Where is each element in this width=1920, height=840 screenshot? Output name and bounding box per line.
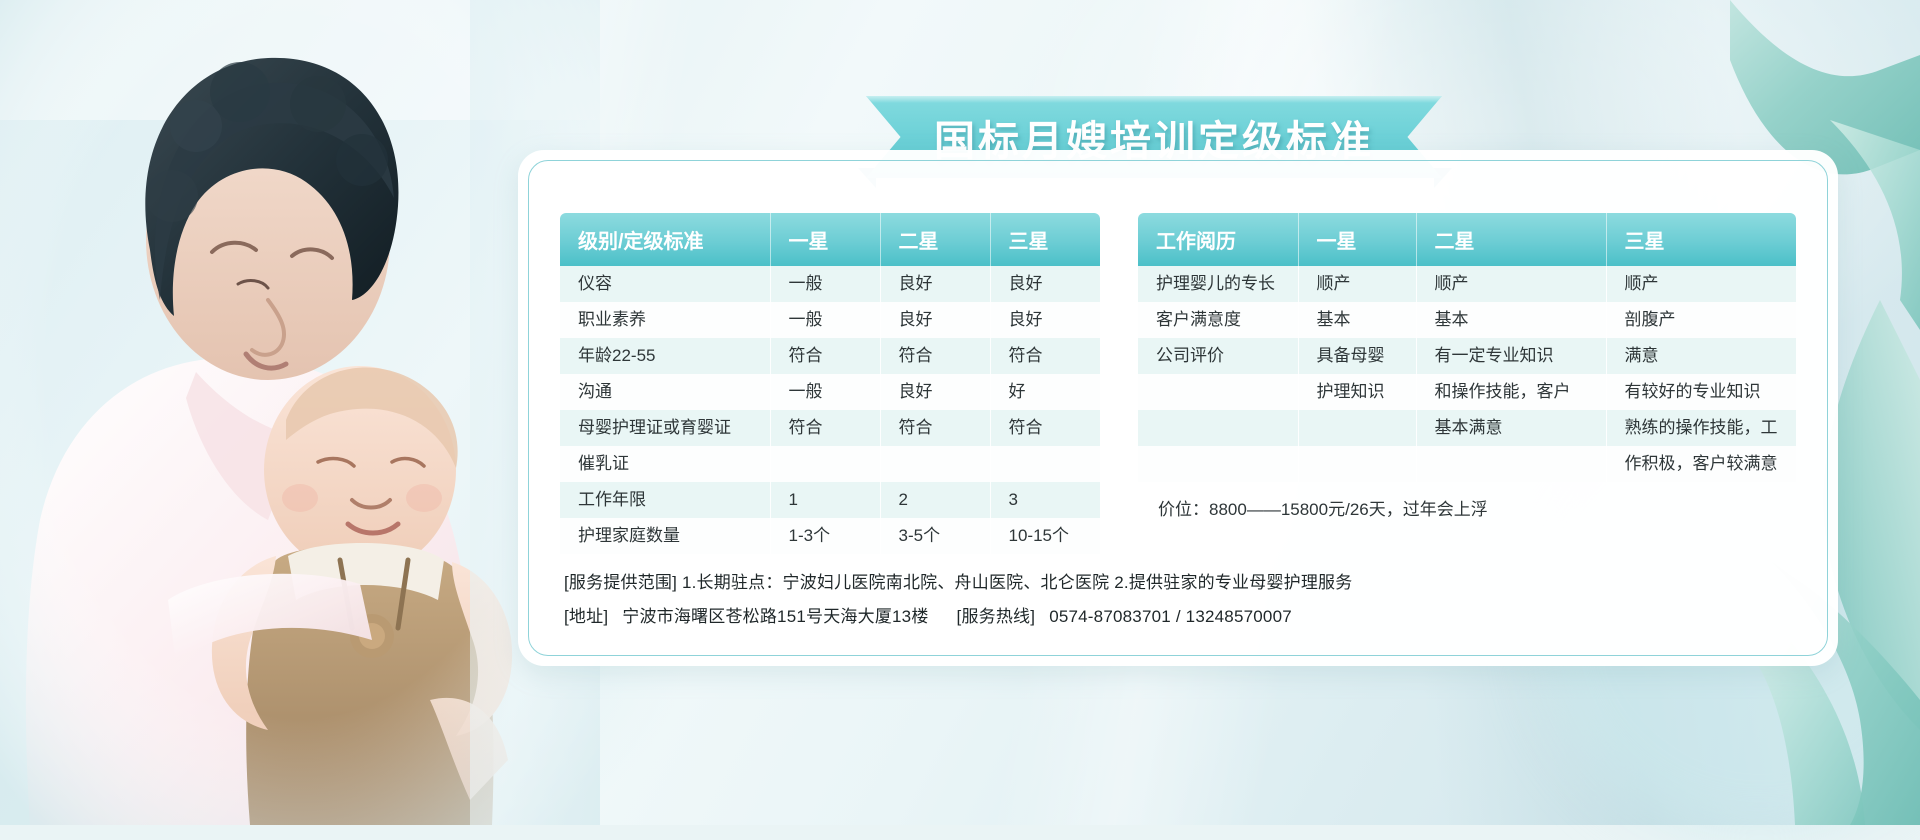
table-header-row: 级别/定级标准 一星 二星 三星 [560,213,1100,266]
cell-three-star: 有较好的专业知识 [1606,374,1796,410]
work-experience-table: 工作阅历 一星 二星 三星 护理婴儿的专长 顺产 顺产 顺产 客户满意度 基本 … [1138,213,1796,482]
cell-three-star: 熟练的操作技能，工 [1606,410,1796,446]
cell-one-star: 护理知识 [1298,374,1416,410]
cell-three-star: 作积极，客户较满意 [1606,446,1796,482]
cell-experience: 公司评价 [1138,338,1298,374]
cell-criteria: 工作年限 [560,482,770,518]
cell-two-star: 2 [880,482,990,518]
table-row: 护理知识 和操作技能，客户 有较好的专业知识 [1138,374,1796,410]
cell-one-star: 1-3个 [770,518,880,554]
cell-experience [1138,374,1298,410]
table-row: 工作年限 1 2 3 [560,482,1100,518]
table-row: 职业素养 一般 良好 良好 [560,302,1100,338]
th-one-star: 一星 [770,213,880,266]
address-label: [地址] [564,607,608,626]
hotline-label: [服务热线] [957,607,1036,626]
table-row: 护理婴儿的专长 顺产 顺产 顺产 [1138,266,1796,302]
cell-criteria: 沟通 [560,374,770,410]
cell-one-star [1298,446,1416,482]
address-value: 宁波市海曙区苍松路151号天海大厦13楼 [622,607,928,626]
th-criteria: 级别/定级标准 [560,213,770,266]
price-note: 价位：8800——15800元/26天，过年会上浮 [1138,495,1796,520]
cell-two-star [880,446,990,482]
cell-experience: 客户满意度 [1138,302,1298,338]
cell-one-star: 符合 [770,338,880,374]
cell-criteria: 年龄22-55 [560,338,770,374]
contact-line: [地址]宁波市海曙区苍松路151号天海大厦13楼[服务热线]0574-87083… [564,602,1292,627]
cell-two-star: 符合 [880,338,990,374]
table-row: 仪容 一般 良好 良好 [560,266,1100,302]
cell-one-star: 一般 [770,302,880,338]
th-two-star: 二星 [880,213,990,266]
cell-one-star: 一般 [770,266,880,302]
cell-three-star: 好 [990,374,1100,410]
cell-two-star: 良好 [880,266,990,302]
cell-criteria: 催乳证 [560,446,770,482]
caregiver-photo [0,0,600,825]
cell-one-star: 符合 [770,410,880,446]
service-scope-text: [服务提供范围] 1.长期驻点：宁波妇儿医院南北院、舟山医院、北仑医院 2.提供… [564,573,1352,592]
cell-two-star: 基本满意 [1416,410,1606,446]
th-two-star: 二星 [1416,213,1606,266]
cell-one-star [1298,410,1416,446]
cell-two-star: 顺产 [1416,266,1606,302]
service-scope-line: [服务提供范围] 1.长期驻点：宁波妇儿医院南北院、舟山医院、北仑医院 2.提供… [564,568,1352,593]
cell-one-star: 基本 [1298,302,1416,338]
cell-three-star [990,446,1100,482]
cell-three-star: 良好 [990,302,1100,338]
cell-one-star [770,446,880,482]
cell-criteria: 护理家庭数量 [560,518,770,554]
th-three-star: 三星 [990,213,1100,266]
cell-one-star: 顺产 [1298,266,1416,302]
cell-two-star: 3-5个 [880,518,990,554]
hotline-value: 0574-87083701 / 13248570007 [1049,607,1292,626]
cell-one-star: 1 [770,482,880,518]
cell-experience [1138,446,1298,482]
cell-experience: 护理婴儿的专长 [1138,266,1298,302]
table-row: 公司评价 具备母婴 有一定专业知识 满意 [1138,338,1796,374]
table-row: 基本满意 熟练的操作技能，工 [1138,410,1796,446]
cell-two-star: 和操作技能，客户 [1416,374,1606,410]
cell-three-star: 符合 [990,410,1100,446]
cell-three-star: 良好 [990,266,1100,302]
cell-two-star: 良好 [880,302,990,338]
cell-two-star: 良好 [880,374,990,410]
table-row: 沟通 一般 良好 好 [560,374,1100,410]
table-header-row: 工作阅历 一星 二星 三星 [1138,213,1796,266]
cell-three-star: 符合 [990,338,1100,374]
table-row: 母婴护理证或育婴证 符合 符合 符合 [560,410,1100,446]
cell-three-star: 剖腹产 [1606,302,1796,338]
table-row: 年龄22-55 符合 符合 符合 [560,338,1100,374]
cell-criteria: 职业素养 [560,302,770,338]
table-row: 客户满意度 基本 基本 剖腹产 [1138,302,1796,338]
th-three-star: 三星 [1606,213,1796,266]
cell-three-star: 满意 [1606,338,1796,374]
cell-experience [1138,410,1298,446]
cell-three-star: 顺产 [1606,266,1796,302]
cell-two-star [1416,446,1606,482]
cell-two-star: 有一定专业知识 [1416,338,1606,374]
cell-two-star: 符合 [880,410,990,446]
cell-three-star: 10-15个 [990,518,1100,554]
cell-one-star: 一般 [770,374,880,410]
cell-one-star: 具备母婴 [1298,338,1416,374]
th-one-star: 一星 [1298,213,1416,266]
cell-criteria: 仪容 [560,266,770,302]
grading-standard-table: 级别/定级标准 一星 二星 三星 仪容 一般 良好 良好 职业素养 一般 良好 [560,213,1100,554]
table-row: 催乳证 [560,446,1100,482]
cell-two-star: 基本 [1416,302,1606,338]
table-row: 护理家庭数量 1-3个 3-5个 10-15个 [560,518,1100,554]
table-row: 作积极，客户较满意 [1138,446,1796,482]
cell-three-star: 3 [990,482,1100,518]
cell-criteria: 母婴护理证或育婴证 [560,410,770,446]
th-experience: 工作阅历 [1138,213,1298,266]
